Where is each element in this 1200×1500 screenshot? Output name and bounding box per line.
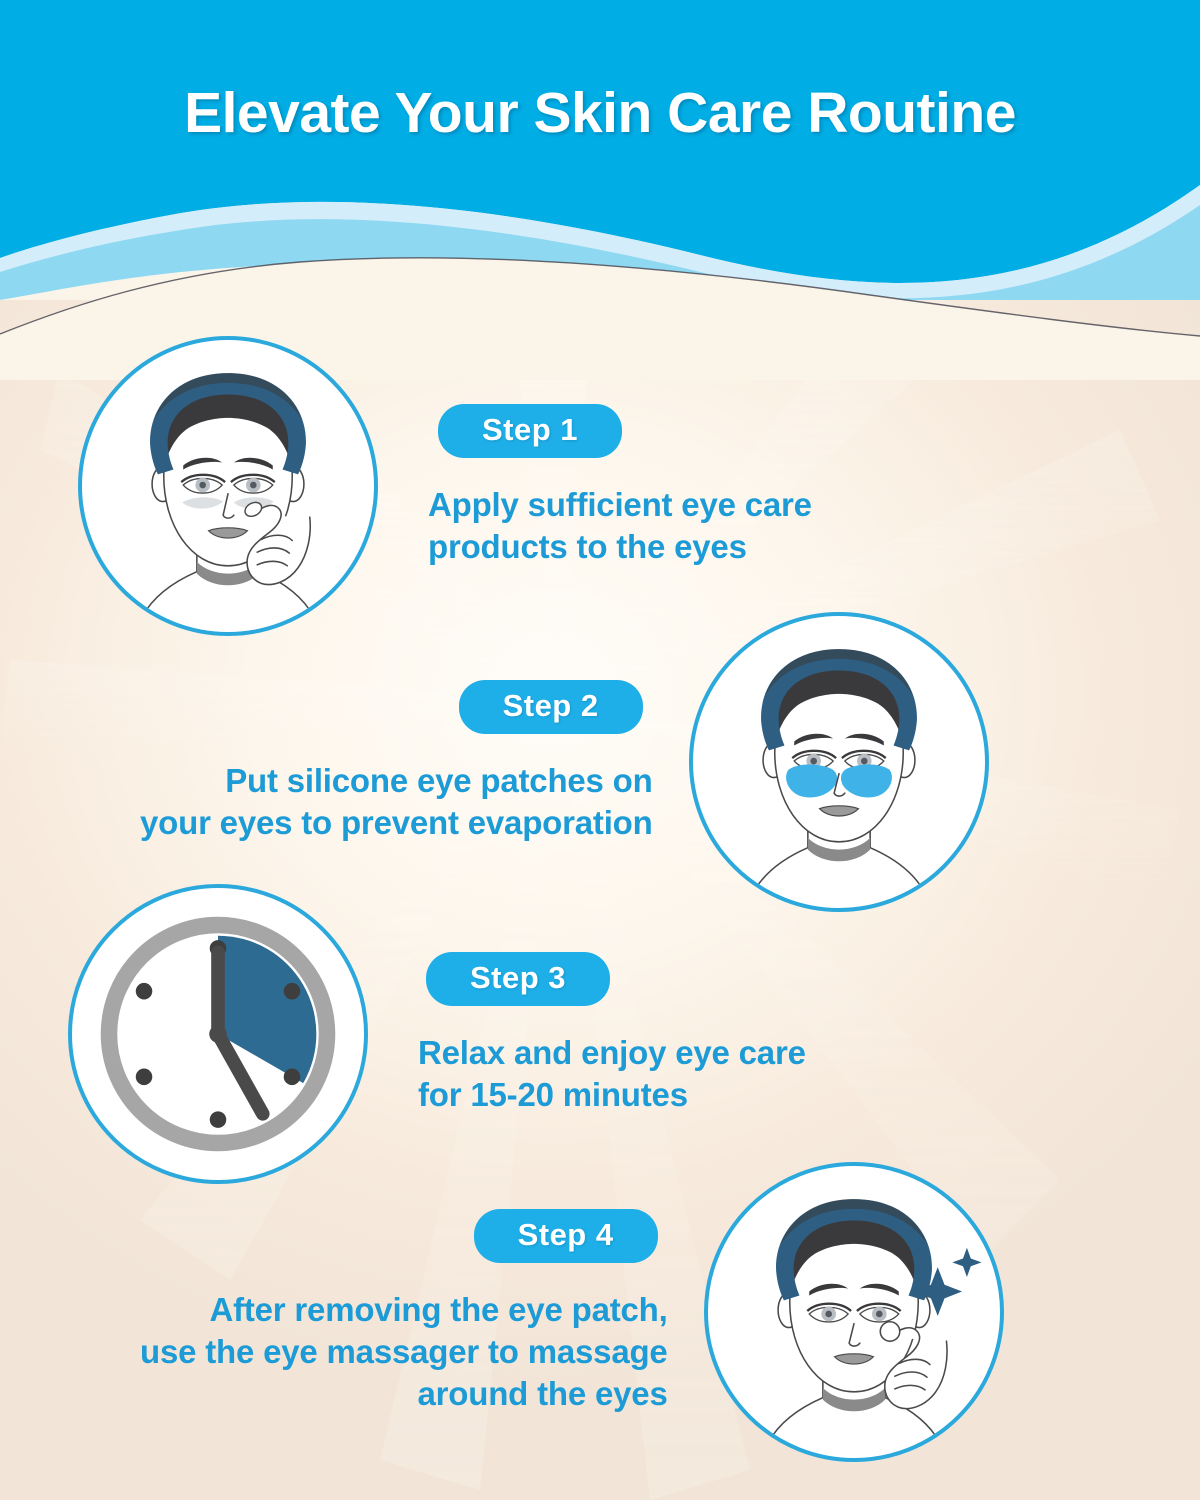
step-1-description: Apply sufficient eye care products to th… xyxy=(428,484,812,568)
page-title: Elevate Your Skin Care Routine xyxy=(0,80,1200,146)
woman-wearing-eye-patches-icon xyxy=(693,616,985,908)
step-1-image-circle xyxy=(78,336,378,636)
step-4-badge: Step 4 xyxy=(474,1209,658,1263)
step-1-badge: Step 1 xyxy=(438,404,622,458)
step-4-description: After removing the eye patch, use the ey… xyxy=(140,1289,668,1416)
step-4-text-column: Step 4 After removing the eye patch, use… xyxy=(140,1209,668,1416)
step-2-text-column: Step 2 Put silicone eye patches on your … xyxy=(140,680,653,844)
step-1-text-column: Step 1 Apply sufficient eye care product… xyxy=(428,404,812,568)
step-2-row: Step 2 Put silicone eye patches on your … xyxy=(140,612,989,912)
step-2-description: Put silicone eye patches on your eyes to… xyxy=(140,760,653,844)
step-3-image-circle xyxy=(68,884,368,1184)
step-3-badge: Step 3 xyxy=(426,952,610,1006)
step-2-badge: Step 2 xyxy=(459,680,643,734)
step-4-image-circle xyxy=(704,1162,1004,1462)
step-3-description: Relax and enjoy eye care for 15-20 minut… xyxy=(418,1032,806,1116)
infographic-page: Elevate Your Skin Care Routine xyxy=(0,0,1200,1500)
woman-applying-eye-cream-icon xyxy=(82,340,374,632)
woman-using-eye-massager-icon xyxy=(708,1166,1000,1458)
step-2-image-circle xyxy=(689,612,989,912)
step-4-row: Step 4 After removing the eye patch, use… xyxy=(140,1162,1004,1462)
step-3-text-column: Step 3 Relax and enjoy eye care for 15-2… xyxy=(418,952,806,1116)
step-3-row: Step 3 Relax and enjoy eye care for 15-2… xyxy=(68,884,806,1184)
step-1-row: Step 1 Apply sufficient eye care product… xyxy=(78,336,812,636)
clock-timer-icon xyxy=(72,888,364,1180)
